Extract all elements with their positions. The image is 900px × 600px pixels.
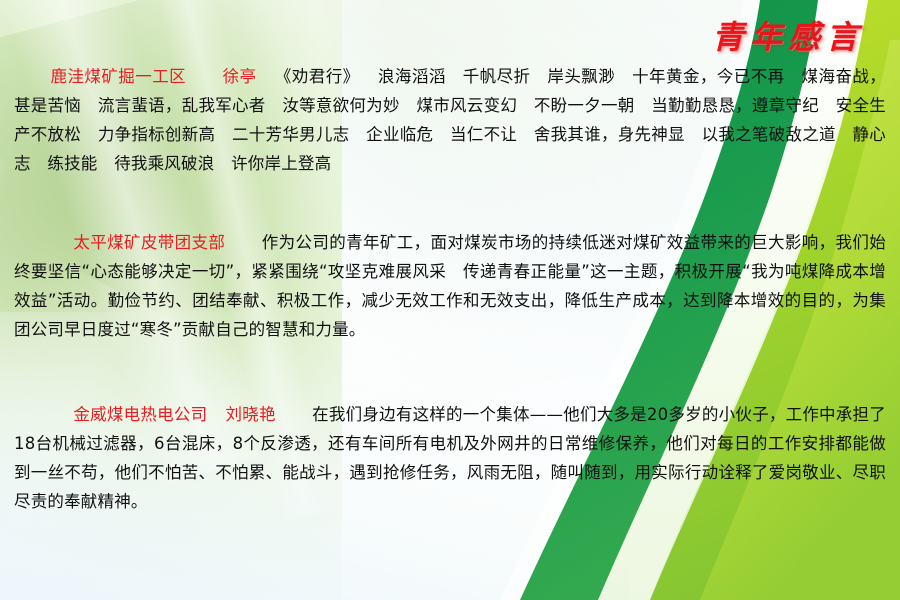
- poem-paragraph: 鹿洼煤矿掘一工区徐亭《劝君行》浪海滔滔 千帆尽折 岸头飘渺 十年黄金，今已不再 …: [14, 62, 886, 178]
- entry-author: 刘晓艳: [225, 405, 275, 424]
- entry-org: 鹿洼煤矿掘一工区: [50, 67, 186, 86]
- entry-block-poem: 鹿洼煤矿掘一工区徐亭《劝君行》浪海滔滔 千帆尽折 岸头飘渺 十年黄金，今已不再 …: [14, 62, 886, 178]
- entry-block-taiping: 太平煤矿皮带团支部作为公司的青年矿工，面对煤炭市场的持续低迷对煤矿效益带来的巨大…: [14, 228, 886, 344]
- entry-paragraph: 金威煤电热电公司刘晓艳在我们身边有这样的一个集体——他们大多是20多岁的小伙子，…: [14, 400, 886, 516]
- slide-page: 青年感言 鹿洼煤矿掘一工区徐亭《劝君行》浪海滔滔 千帆尽折 岸头飘渺 十年黄金，…: [0, 0, 900, 600]
- page-title: 青年感言: [712, 12, 864, 58]
- entry-paragraph: 太平煤矿皮带团支部作为公司的青年矿工，面对煤炭市场的持续低迷对煤矿效益带来的巨大…: [14, 228, 886, 344]
- entry-org: 金威煤电热电公司: [73, 405, 207, 424]
- entry-author: 徐亭: [222, 67, 256, 86]
- entry-work-title: 《劝君行》: [275, 67, 360, 86]
- entry-org: 太平煤矿皮带团支部: [73, 233, 225, 252]
- entry-block-jinwei: 金威煤电热电公司刘晓艳在我们身边有这样的一个集体——他们大多是20多岁的小伙子，…: [14, 400, 886, 516]
